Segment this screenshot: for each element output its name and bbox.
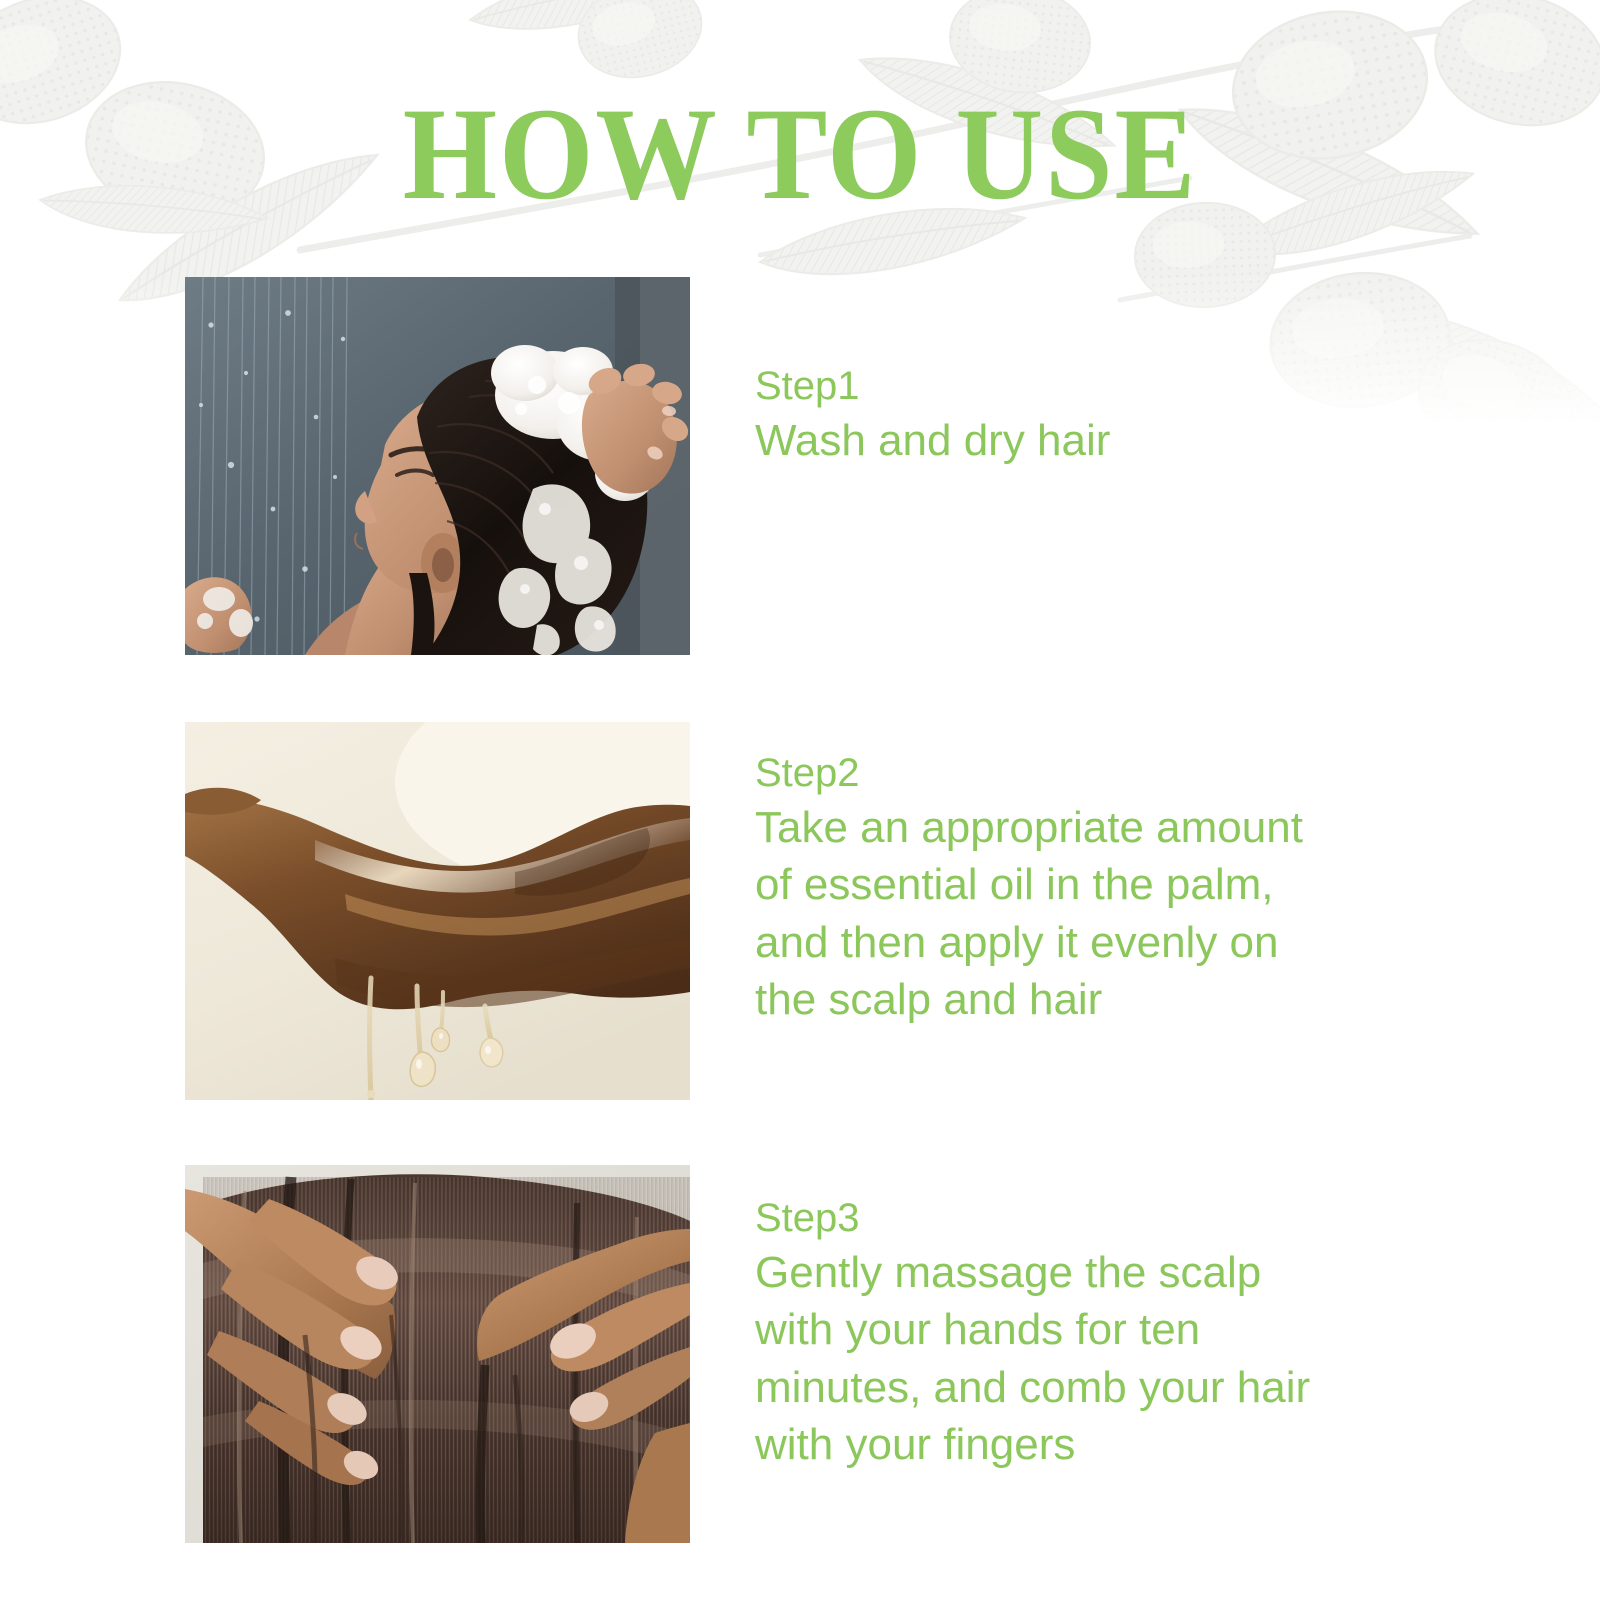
step-1-line-1: Wash and dry hair: [755, 412, 1110, 469]
step-3-description: Gently massage the scalp with your hands…: [755, 1244, 1310, 1473]
step-row-3: Step3 Gently massage the scalp with your…: [0, 1165, 1600, 1543]
step-2-line-4: the scalp and hair: [755, 971, 1303, 1028]
step-3-text: Step3 Gently massage the scalp with your…: [755, 1193, 1310, 1473]
step-2-description: Take an appropriate amount of essential …: [755, 799, 1303, 1028]
step-2-photo: [185, 722, 690, 1100]
step-3-line-2: with your hands for ten: [755, 1301, 1310, 1358]
step-3-line-3: minutes, and comb your hair: [755, 1359, 1310, 1416]
step-1-text: Step1 Wash and dry hair: [755, 361, 1110, 469]
how-to-use-page: HOW TO USE: [0, 0, 1600, 1600]
step-3-line-1: Gently massage the scalp: [755, 1244, 1310, 1301]
step-row-1: Step1 Wash and dry hair: [0, 277, 1600, 655]
step-2-label: Step2: [755, 748, 1303, 799]
step-2-line-2: of essential oil in the palm,: [755, 856, 1303, 913]
step-2-line-3: and then apply it evenly on: [755, 914, 1303, 971]
step-1-label: Step1: [755, 361, 1110, 412]
page-title: HOW TO USE: [64, 88, 1536, 220]
step-3-photo: [185, 1165, 690, 1543]
step-row-2: Step2 Take an appropriate amount of esse…: [0, 722, 1600, 1100]
step-2-line-1: Take an appropriate amount: [755, 799, 1303, 856]
step-3-line-4: with your fingers: [755, 1416, 1310, 1473]
step-1-description: Wash and dry hair: [755, 412, 1110, 469]
step-3-label: Step3: [755, 1193, 1310, 1244]
step-1-photo: [185, 277, 690, 655]
step-2-text: Step2 Take an appropriate amount of esse…: [755, 748, 1303, 1028]
